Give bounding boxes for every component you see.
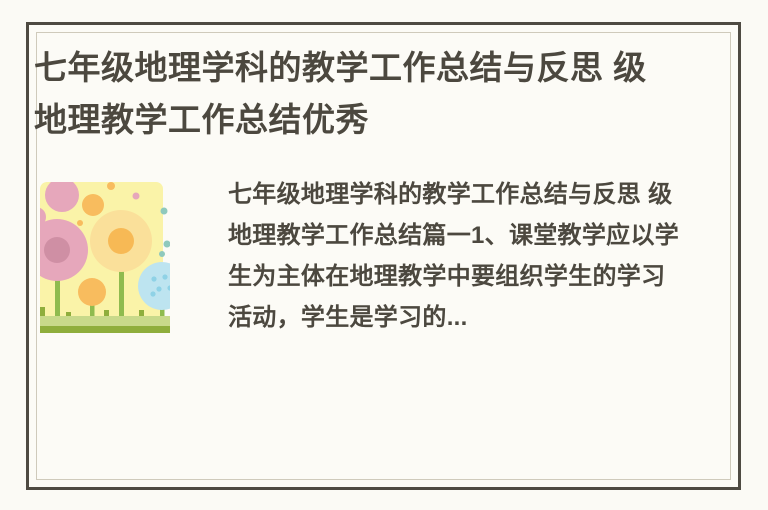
page-title: 七年级地理学科的教学工作总结与反思 级地理教学工作总结优秀	[34, 42, 654, 146]
article-excerpt: 七年级地理学科的教学工作总结与反思 级地理教学工作总结篇一1、课堂教学应以学生为…	[228, 174, 680, 338]
thumbnail-image	[40, 182, 170, 347]
flower-garden-icon	[40, 182, 170, 347]
card-content: 七年级地理学科的教学工作总结与反思 级地理教学工作总结篇一1、课堂教学应以学生为…	[34, 174, 738, 490]
article-card-page: 七年级地理学科的教学工作总结与反思 级地理教学工作总结优秀	[0, 0, 768, 510]
